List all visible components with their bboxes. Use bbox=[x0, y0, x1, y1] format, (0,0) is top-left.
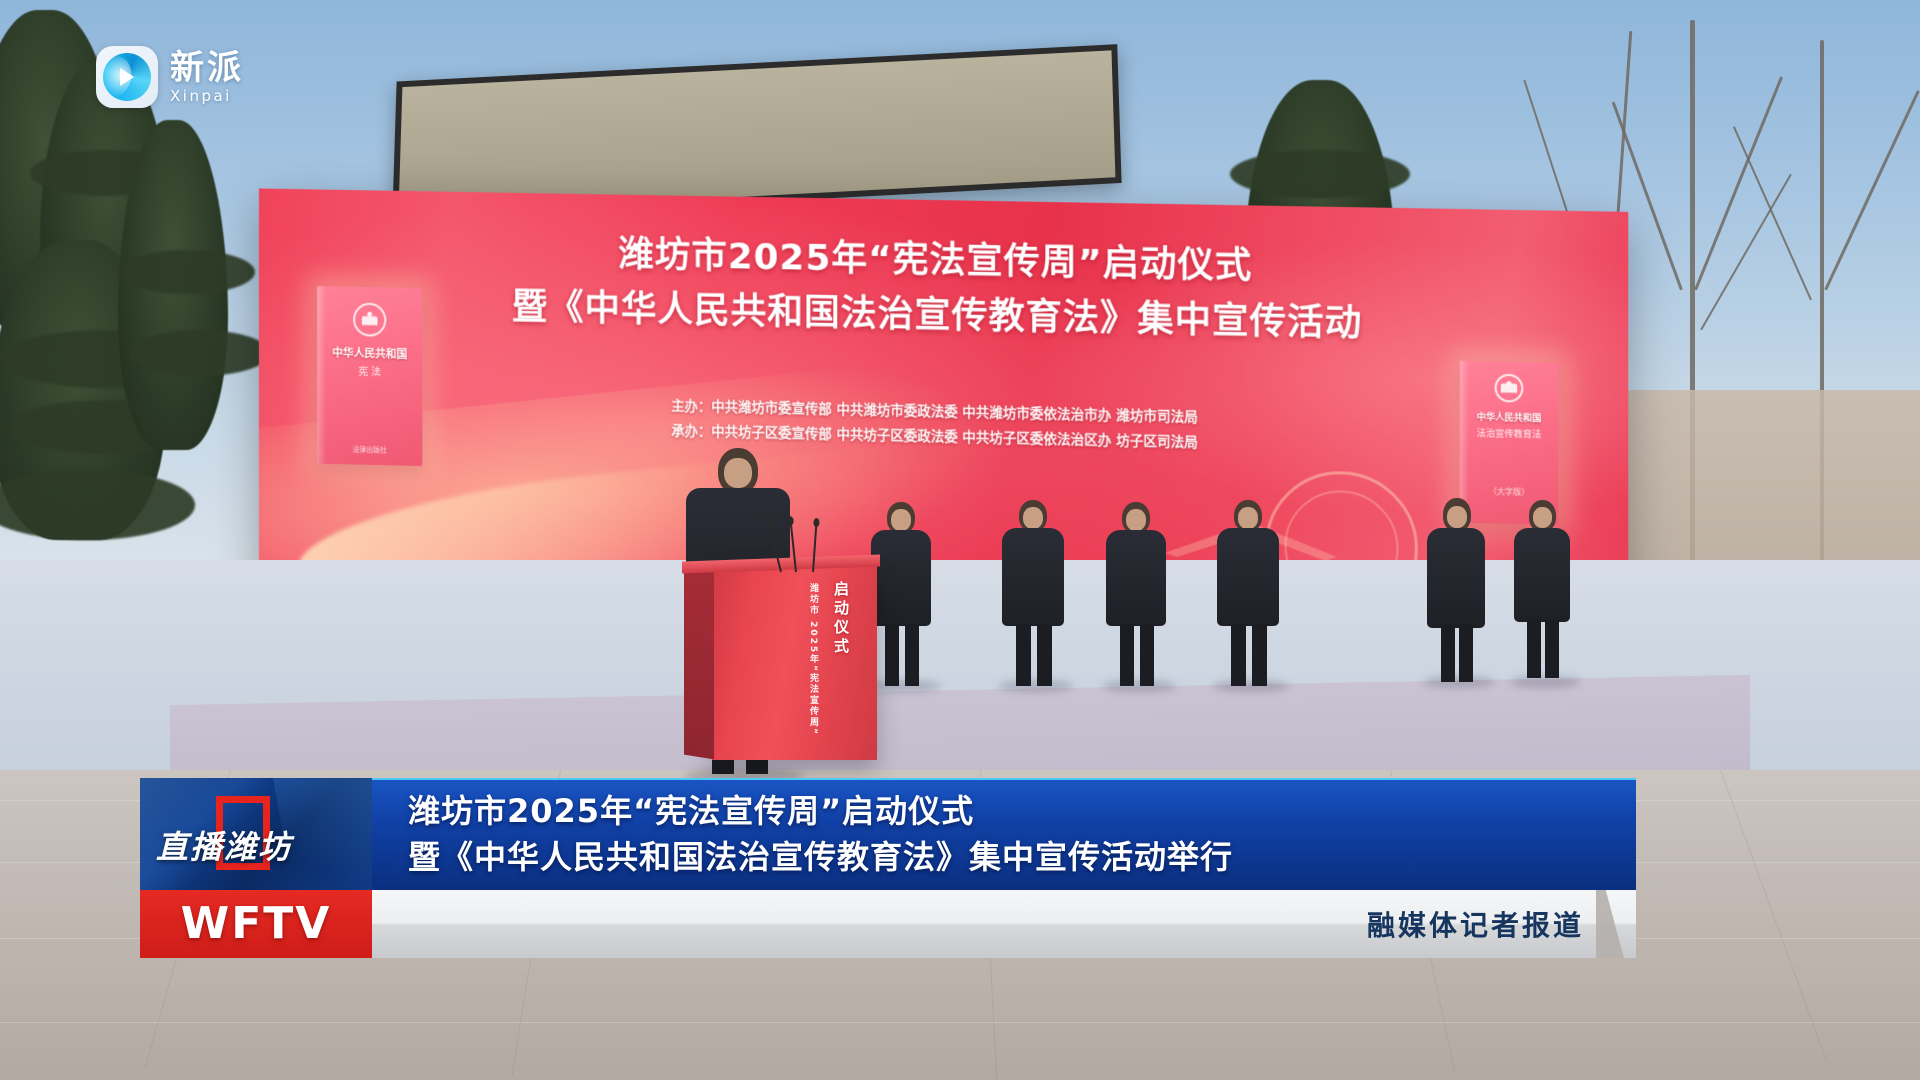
podium-side-panel bbox=[684, 567, 714, 760]
led-title-block: 潍坊市2025年“宪法宣传周”启动仪式 暨《中华人民共和国法治宣传教育法》集中宣… bbox=[259, 222, 1628, 358]
station-brand-top: 直播潍坊 bbox=[140, 778, 372, 890]
station-brand-name: 直播潍坊 bbox=[156, 822, 356, 868]
podium-main-text: 启动仪式 bbox=[831, 581, 851, 657]
book-note-right: （大字版） bbox=[1460, 485, 1558, 498]
book-subtitle-right: 法治宣传教育法 bbox=[1477, 426, 1542, 441]
national-emblem-icon bbox=[353, 303, 386, 337]
banner-corner-cut bbox=[1596, 890, 1636, 958]
channel-logo[interactable]: 新派 Xinpai bbox=[96, 46, 244, 108]
xinpai-app-icon bbox=[96, 46, 158, 108]
reporter-credit: 融媒体记者报道 bbox=[1367, 904, 1584, 944]
book-title-right: 中华人民共和国 bbox=[1471, 412, 1548, 426]
channel-name-en: Xinpai bbox=[170, 89, 244, 104]
channel-name-cn: 新派 bbox=[170, 51, 244, 85]
book-publisher-left: 法律出版社 bbox=[317, 444, 422, 456]
station-callsign: WFTV bbox=[181, 902, 332, 946]
speaker-podium: 启动仪式 潍坊市 2025年“宪法宣传周” bbox=[712, 565, 877, 760]
constitution-book-graphic: 中华人民共和国 宪 法 法律出版社 bbox=[317, 286, 422, 466]
station-brand-bottom: WFTV bbox=[140, 890, 372, 958]
book-spine bbox=[317, 286, 326, 464]
book-subtitle-left: 宪 法 bbox=[358, 363, 381, 378]
play-triangle-icon bbox=[120, 68, 134, 86]
book-title-left: 中华人民共和国 bbox=[326, 345, 413, 362]
headline-line-2: 暨《中华人民共和国法治宣传教育法》集中宣传活动举行 bbox=[408, 834, 1636, 880]
headline-panel: 潍坊市2025年“宪法宣传周”启动仪式 暨《中华人民共和国法治宣传教育法》集中宣… bbox=[372, 778, 1636, 890]
background-building bbox=[1600, 390, 1920, 580]
station-brand-column: 直播潍坊 WFTV bbox=[140, 778, 372, 958]
xinpai-play-icon bbox=[103, 53, 151, 101]
reporter-credit-panel: 融媒体记者报道 bbox=[372, 890, 1636, 958]
channel-logo-text: 新派 Xinpai bbox=[170, 51, 244, 104]
podium-small-text: 潍坊市 2025年“宪法宣传周” bbox=[806, 583, 819, 736]
broadcast-frame: 潍坊市2025年“宪法宣传周”启动仪式 暨《中华人民共和国法治宣传教育法》集中宣… bbox=[0, 0, 1920, 1080]
national-emblem-icon-right bbox=[1495, 374, 1524, 403]
headline-line-1: 潍坊市2025年“宪法宣传周”启动仪式 bbox=[408, 788, 1636, 834]
lower-third-banner: 直播潍坊 WFTV 潍坊市2025年“宪法宣传周”启动仪式 暨《中华人民共和国法… bbox=[140, 778, 1636, 958]
